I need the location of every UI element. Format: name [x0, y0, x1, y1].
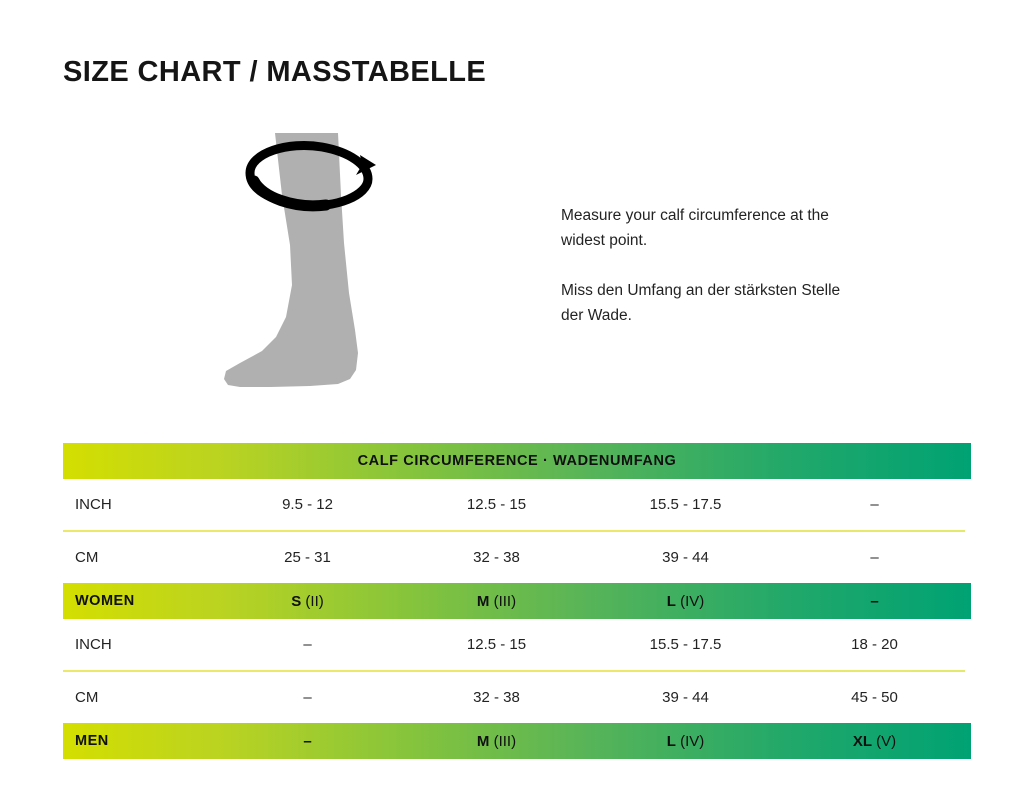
size-row-men: MEN – M (III) L (IV) XL (V): [63, 723, 971, 759]
cell-value: 12.5 - 15: [402, 496, 591, 513]
cell-value: 39 - 44: [591, 549, 780, 566]
row-label: INCH: [63, 496, 213, 513]
cell-value: 32 - 38: [402, 689, 591, 706]
size-cell: L (IV): [591, 593, 780, 610]
size-letter: –: [870, 593, 878, 610]
instruction-spacer: [561, 253, 861, 278]
row-label: INCH: [63, 636, 213, 653]
row-label: CM: [63, 549, 213, 566]
size-cell: –: [213, 733, 402, 750]
cell-value: 15.5 - 17.5: [591, 496, 780, 513]
size-roman: (III): [494, 593, 517, 610]
instructions-block: Measure your calf circumference at the w…: [561, 203, 861, 328]
calf-measurement-illustration: [210, 125, 410, 395]
cell-value: –: [213, 689, 402, 706]
size-roman: (IV): [680, 733, 704, 750]
size-chart-table: CALF CIRCUMFERENCE · WADENUMFANG INCH 9.…: [63, 443, 971, 759]
size-roman: (V): [876, 733, 896, 750]
table-row: INCH – 12.5 - 15 15.5 - 17.5 18 - 20: [63, 619, 971, 670]
size-cell: M (III): [402, 733, 591, 750]
size-letter: –: [303, 733, 311, 750]
size-roman: (II): [305, 593, 323, 610]
table-row: INCH 9.5 - 12 12.5 - 15 15.5 - 17.5 –: [63, 479, 971, 530]
cell-value: 39 - 44: [591, 689, 780, 706]
row-label: CM: [63, 689, 213, 706]
size-letter: M: [477, 593, 490, 610]
table-row: CM 25 - 31 32 - 38 39 - 44 –: [63, 532, 971, 583]
size-letter: L: [667, 733, 676, 750]
page-title: SIZE CHART / MASSTABELLE: [63, 56, 486, 89]
size-row-label: MEN: [63, 733, 213, 749]
cell-value: –: [213, 636, 402, 653]
table-header-label: CALF CIRCUMFERENCE · WADENUMFANG: [358, 453, 677, 469]
size-row-label: WOMEN: [63, 593, 213, 609]
table-header-band: CALF CIRCUMFERENCE · WADENUMFANG: [63, 443, 971, 479]
cell-value: 9.5 - 12: [213, 496, 402, 513]
size-letter: XL: [853, 733, 872, 750]
table-row: CM – 32 - 38 39 - 44 45 - 50: [63, 672, 971, 723]
cell-value: 45 - 50: [780, 689, 969, 706]
size-cell: XL (V): [780, 733, 969, 750]
size-roman: (III): [494, 733, 517, 750]
size-cell: –: [780, 593, 969, 610]
cell-value: 12.5 - 15: [402, 636, 591, 653]
cell-value: 18 - 20: [780, 636, 969, 653]
cell-value: –: [780, 549, 969, 566]
size-row-women: WOMEN S (II) M (III) L (IV) –: [63, 583, 971, 619]
size-roman: (IV): [680, 593, 704, 610]
size-letter: S: [291, 593, 301, 610]
cell-value: 15.5 - 17.5: [591, 636, 780, 653]
cell-value: 32 - 38: [402, 549, 591, 566]
cell-value: 25 - 31: [213, 549, 402, 566]
size-cell: L (IV): [591, 733, 780, 750]
size-letter: L: [667, 593, 676, 610]
size-letter: M: [477, 733, 490, 750]
cell-value: –: [780, 496, 969, 513]
size-cell: M (III): [402, 593, 591, 610]
size-cell: S (II): [213, 593, 402, 610]
instruction-german: Miss den Umfang an der stärksten Stelle …: [561, 278, 861, 328]
instruction-english: Measure your calf circumference at the w…: [561, 203, 861, 253]
